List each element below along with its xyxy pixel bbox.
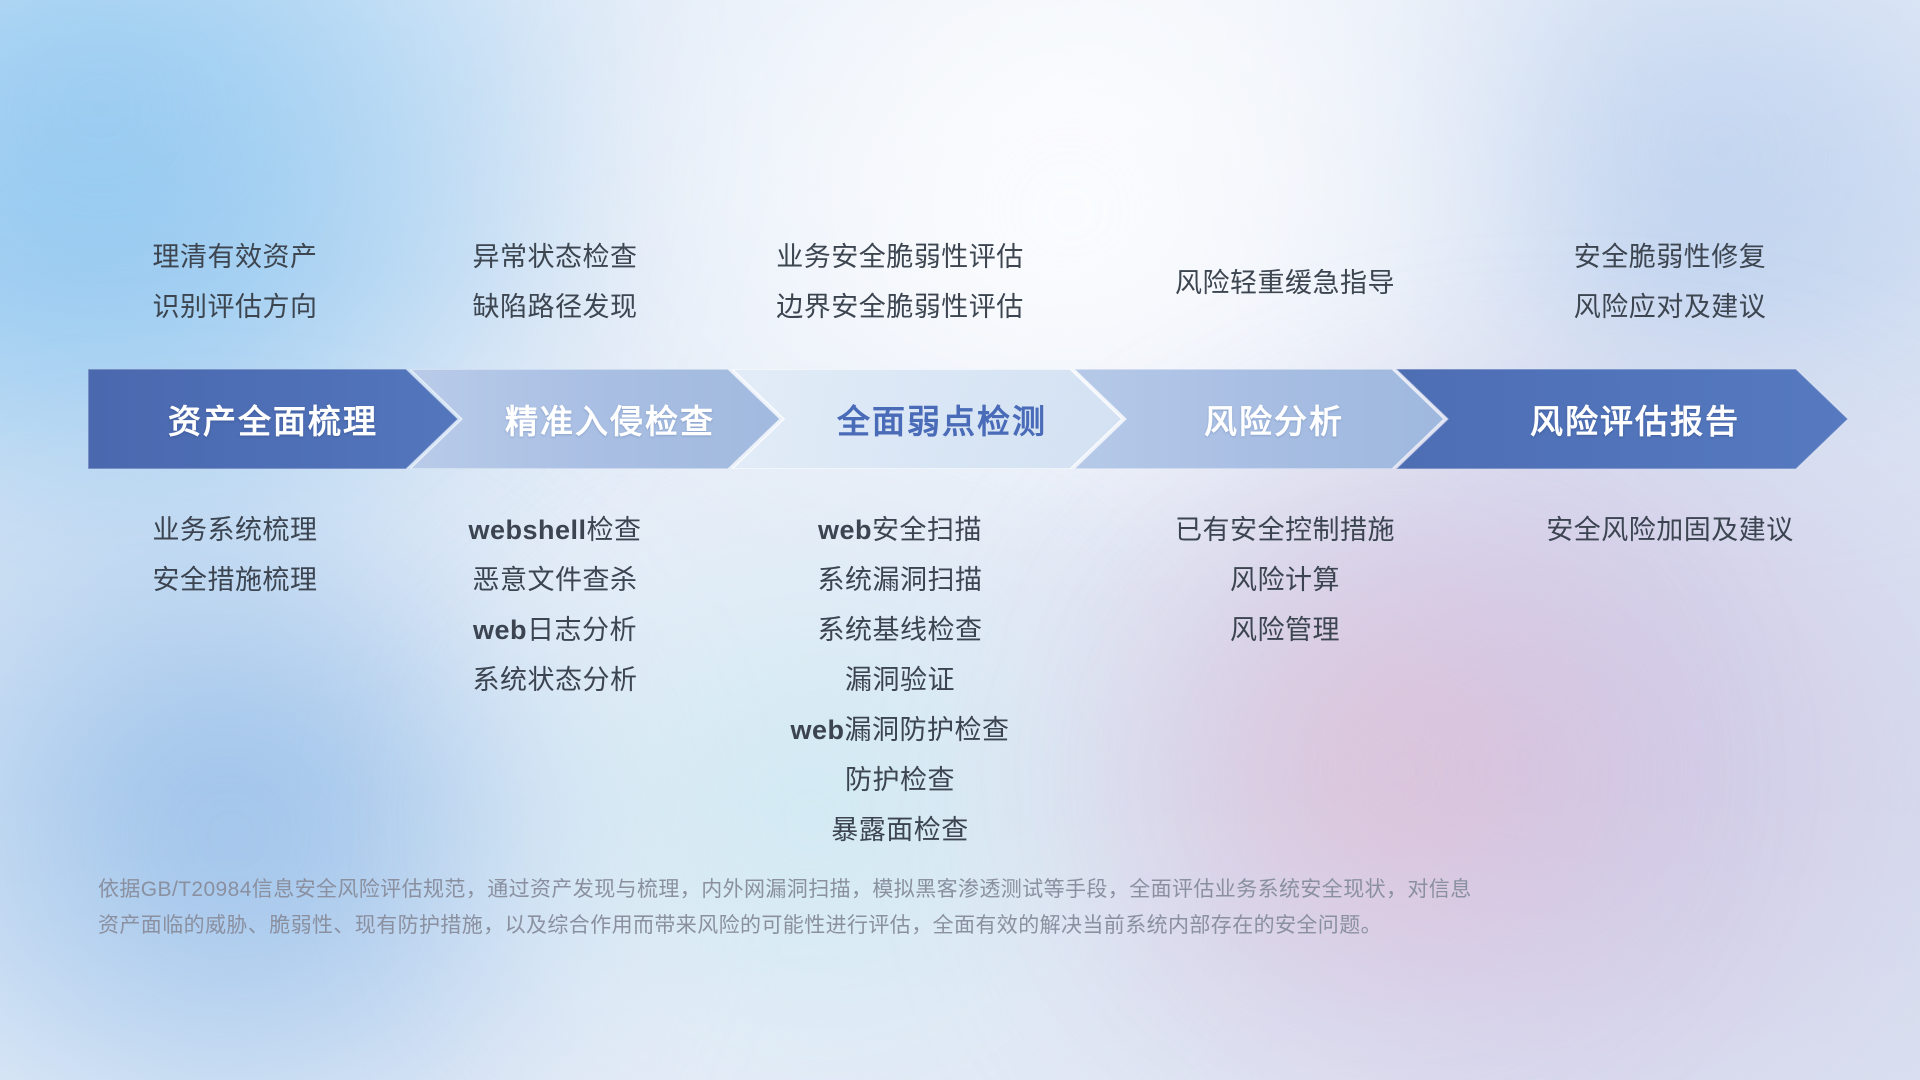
stage-3-top-item-2: 边界安全脆弱性评估 (700, 282, 1100, 332)
stage-2-top-item-2: 缺陷路径发现 (375, 282, 735, 332)
stage-5-bottom-item-1: 安全风险加固及建议 (1440, 505, 1900, 555)
stage-2-bottom-items: webshell检查 恶意文件查杀 web日志分析 系统状态分析 (375, 505, 735, 705)
stage-2-bottom-item-4: 系统状态分析 (375, 655, 735, 705)
stage-3-bottom-item-1: web安全扫描 (700, 505, 1100, 555)
stage-5-bottom-items: 安全风险加固及建议 (1440, 505, 1900, 555)
stage-3-bottom-item-6: 防护检查 (700, 755, 1100, 805)
stage-4-top-captions: 风险轻重缓急指导 (1085, 258, 1485, 308)
stage-3-bottom-item-1-prefix: web (818, 515, 872, 545)
stage-2-label: 精准入侵检查 (505, 395, 715, 443)
footnote-line-1: 依据GB/T20984信息安全风险评估规范，通过资产发现与梳理，内外网漏洞扫描，… (98, 872, 1658, 908)
stage-3-bottom-item-4: 漏洞验证 (700, 655, 1100, 705)
stage-4-bottom-item-1: 已有安全控制措施 (1085, 505, 1485, 555)
stage-1-label: 资产全面梳理 (168, 395, 378, 443)
stage-2-arrow[interactable]: 精准入侵检查 (410, 369, 780, 469)
stage-4-arrow[interactable]: 风险分析 (1074, 369, 1444, 469)
stage-4-top-item-1: 风险轻重缓急指导 (1085, 258, 1485, 308)
stage-2-bottom-item-2: 恶意文件查杀 (375, 555, 735, 605)
footnote-line-2: 资产面临的威胁、脆弱性、现有防护措施，以及综合作用而带来风险的可能性进行评估，全… (98, 908, 1658, 944)
stage-3-top-captions: 业务安全脆弱性评估 边界安全脆弱性评估 (700, 232, 1100, 332)
stage-5-label: 风险评估报告 (1530, 395, 1740, 443)
stage-4-bottom-item-3: 风险管理 (1085, 605, 1485, 655)
stage-2-bottom-item-3-prefix: web (473, 615, 527, 645)
stage-3-bottom-item-3: 系统基线检查 (700, 605, 1100, 655)
stage-3-bottom-item-2: 系统漏洞扫描 (700, 555, 1100, 605)
stage-3-bottom-item-1-text: 安全扫描 (872, 515, 982, 545)
stage-4-bottom-item-2: 风险计算 (1085, 555, 1485, 605)
footnote-paragraph: 依据GB/T20984信息安全风险评估规范，通过资产发现与梳理，内外网漏洞扫描，… (98, 872, 1658, 944)
stage-3-bottom-item-5-prefix: web (790, 715, 844, 745)
stage-5-top-captions: 安全脆弱性修复 风险应对及建议 (1470, 232, 1870, 332)
stage-2-bottom-item-1-prefix: webshell (468, 515, 586, 545)
stage-3-top-item-1: 业务安全脆弱性评估 (700, 232, 1100, 282)
stage-3-bottom-items: web安全扫描 系统漏洞扫描 系统基线检查 漏洞验证 web漏洞防护检查 防护检… (700, 505, 1100, 855)
stage-5-top-item-1: 安全脆弱性修复 (1470, 232, 1870, 282)
stage-2-bottom-item-1: webshell检查 (375, 505, 735, 555)
stage-3-label: 全面弱点检测 (837, 395, 1047, 443)
stage-4-label: 风险分析 (1204, 395, 1344, 443)
stage-4-bottom-items: 已有安全控制措施 风险计算 风险管理 (1085, 505, 1485, 655)
stage-5-top-item-2: 风险应对及建议 (1470, 282, 1870, 332)
stage-2-top-captions: 异常状态检查 缺陷路径发现 (375, 232, 735, 332)
process-arrow-band: 资产全面梳理 (88, 369, 1848, 469)
stage-2-bottom-item-3: web日志分析 (375, 605, 735, 655)
stage-3-arrow[interactable]: 全面弱点检测 (732, 369, 1122, 469)
diagram-content: 理清有效资产 识别评估方向 异常状态检查 缺陷路径发现 业务安全脆弱性评估 边界… (0, 0, 1920, 1080)
stage-3-bottom-item-5: web漏洞防护检查 (700, 705, 1100, 755)
slide-canvas: 理清有效资产 识别评估方向 异常状态检查 缺陷路径发现 业务安全脆弱性评估 边界… (0, 0, 1920, 1080)
stage-2-bottom-item-3-text: 日志分析 (527, 615, 637, 645)
stage-3-bottom-item-7: 暴露面检查 (700, 805, 1100, 855)
stage-2-top-item-1: 异常状态检查 (375, 232, 735, 282)
stage-5-arrow[interactable]: 风险评估报告 (1396, 369, 1848, 469)
stage-2-bottom-item-1-text: 检查 (587, 515, 642, 545)
stage-1-arrow[interactable]: 资产全面梳理 (88, 369, 458, 469)
stage-3-bottom-item-5-text: 漏洞防护检查 (845, 715, 1010, 745)
